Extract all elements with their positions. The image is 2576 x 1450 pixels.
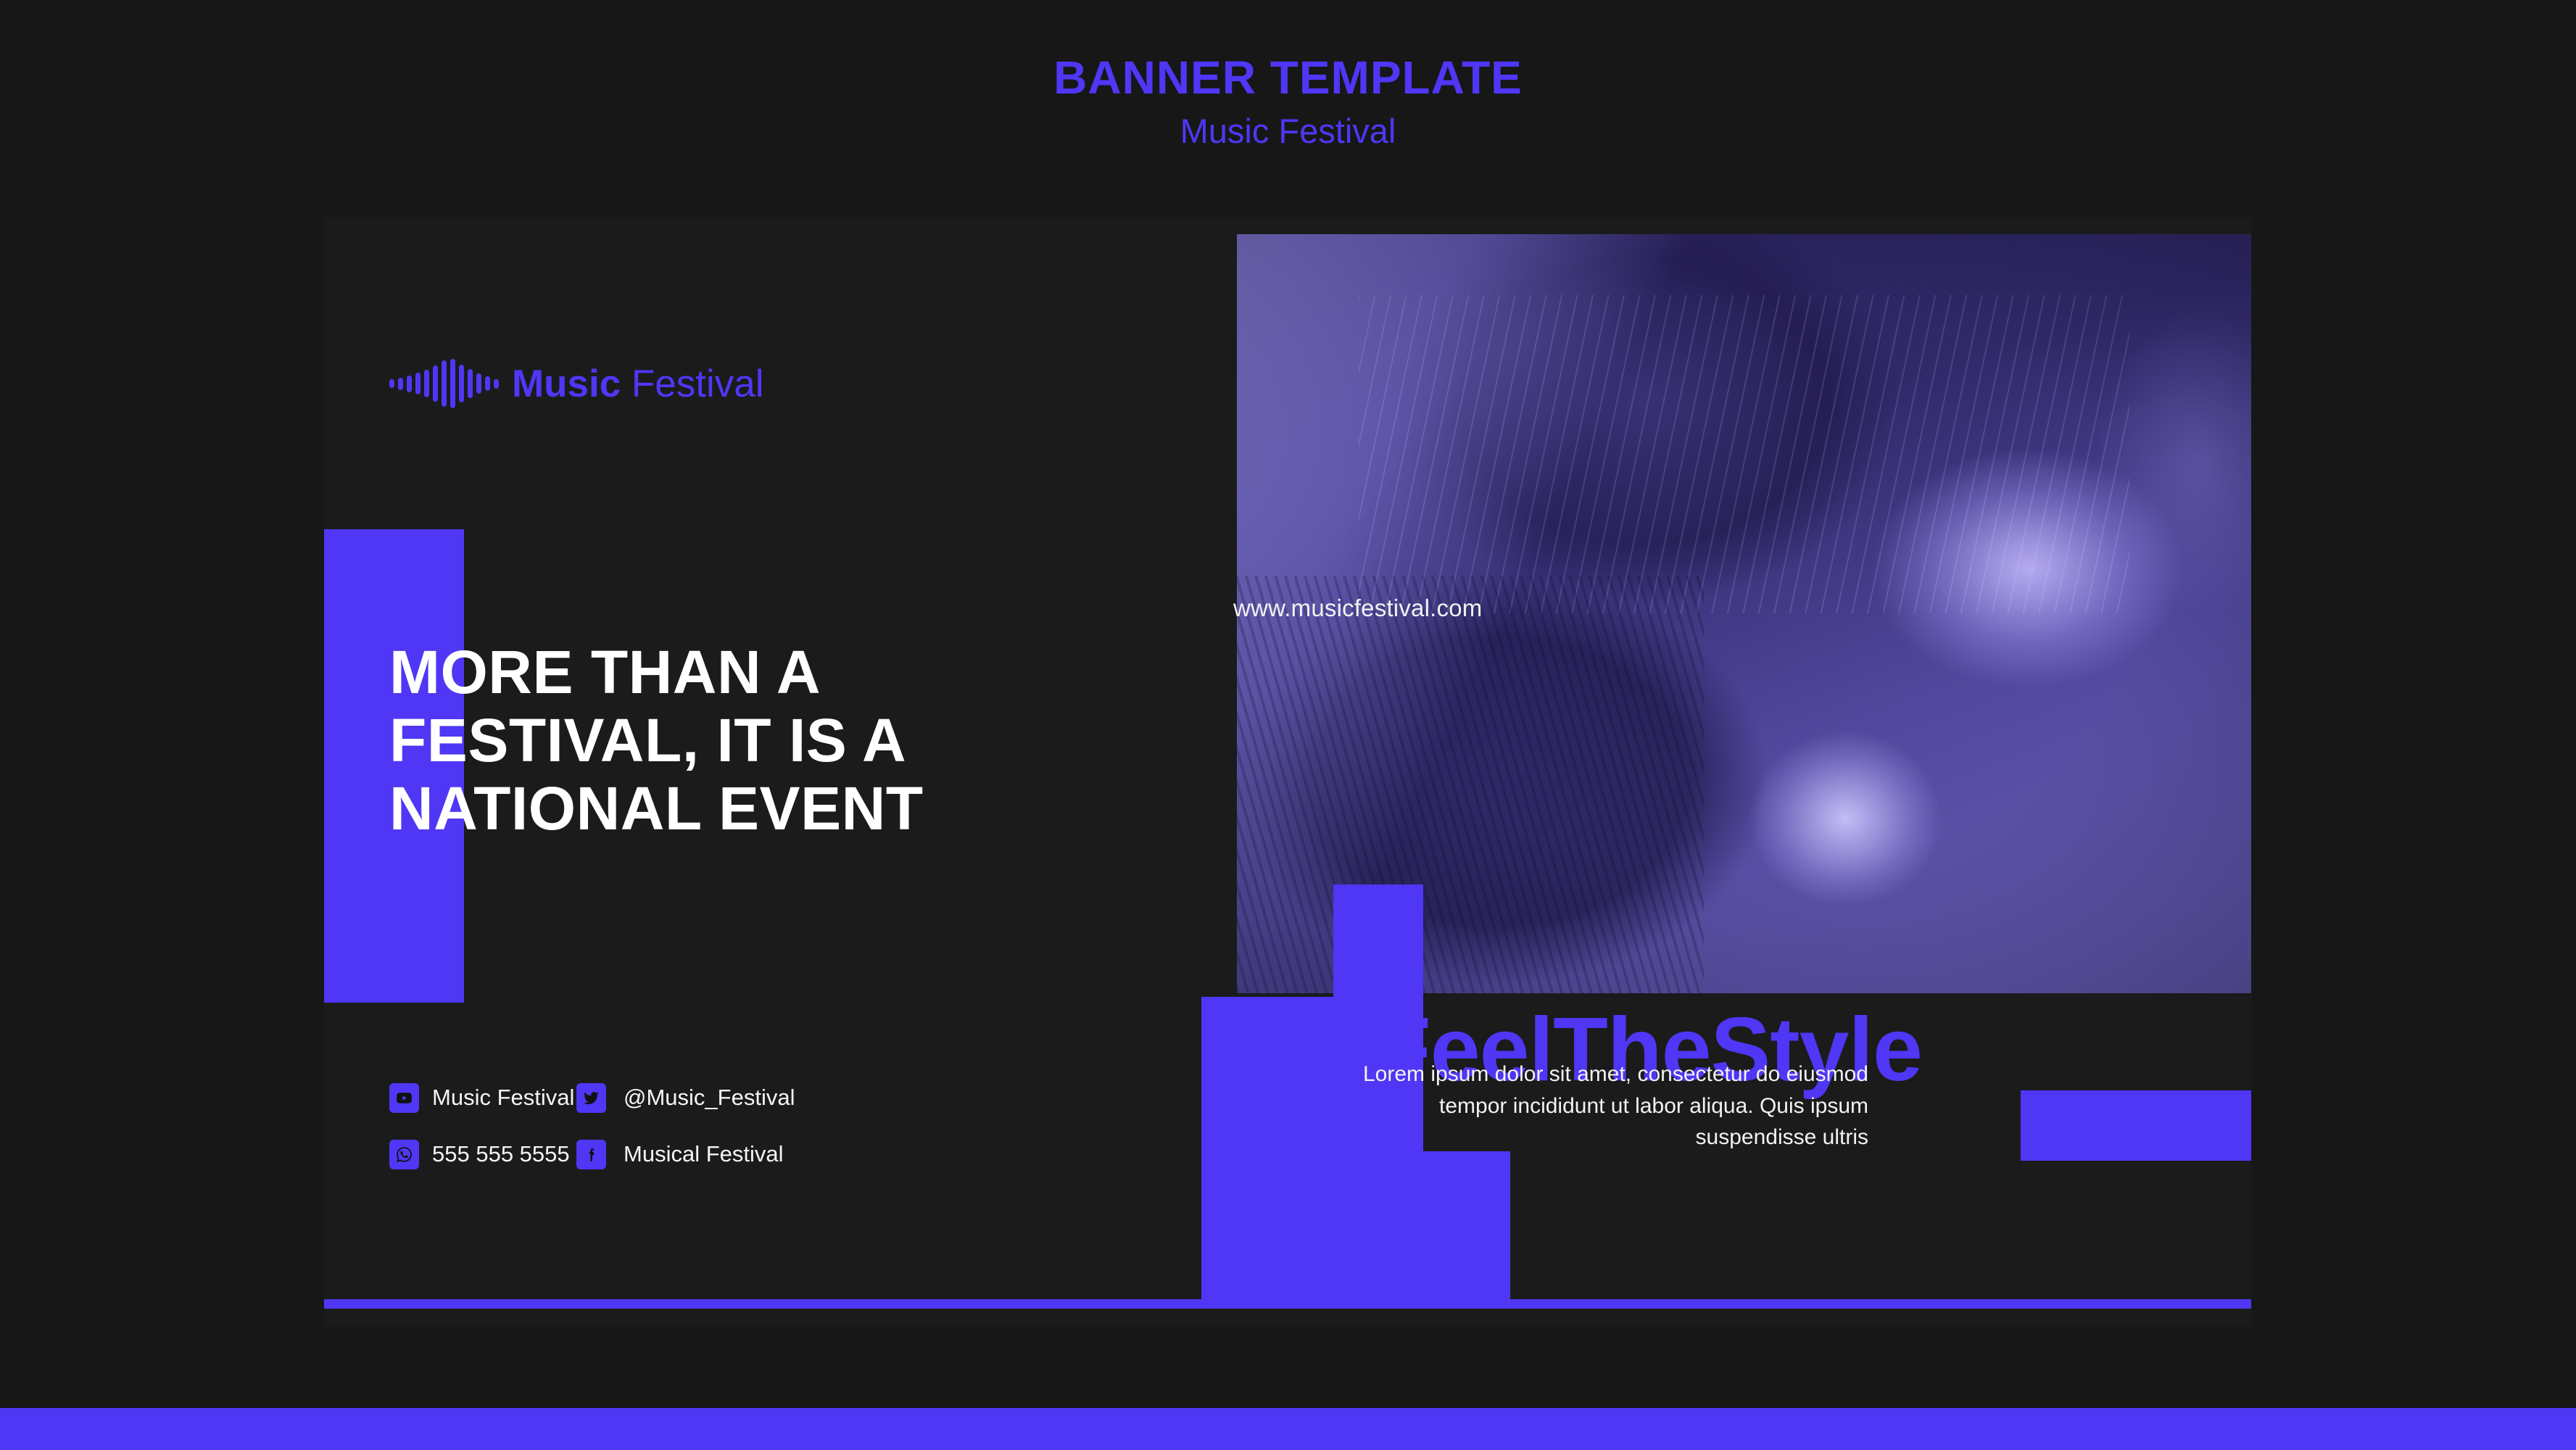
brand-logo[interactable]: Music Festival bbox=[389, 359, 764, 408]
page-heading: BANNER TEMPLATE Music Festival bbox=[0, 54, 2576, 150]
social-item-youtube[interactable]: Music Festival bbox=[389, 1077, 576, 1118]
social-item-twitter[interactable]: @Music_Festival bbox=[576, 1077, 795, 1118]
page-subtitle: Music Festival bbox=[0, 112, 2576, 150]
headline-line-2: FESTIVAL, IT IS A bbox=[389, 706, 1245, 774]
step-bar-3 bbox=[1403, 1151, 1510, 1305]
website-url[interactable]: www.musicfestival.com bbox=[1233, 594, 1482, 622]
brand-name-light: Festival bbox=[621, 362, 763, 405]
social-item-whatsapp[interactable]: 555 555 5555 bbox=[389, 1134, 576, 1174]
brand-name-bold: Music bbox=[512, 362, 621, 405]
banner-card: Music Festival www.musicfestival.com MOR… bbox=[324, 217, 2251, 1327]
banner-bottom-rule bbox=[324, 1299, 2251, 1309]
facebook-icon bbox=[576, 1140, 606, 1169]
social-label-whatsapp: 555 555 5555 bbox=[432, 1141, 570, 1167]
social-item-facebook[interactable]: Musical Festival bbox=[576, 1134, 795, 1174]
social-label-youtube: Music Festival bbox=[432, 1085, 574, 1111]
page-title: BANNER TEMPLATE bbox=[0, 54, 2576, 102]
body-text: Lorem ipsum dolor sit amet, consectetur … bbox=[1361, 1058, 1868, 1153]
headline: MORE THAN A FESTIVAL, IT IS A NATIONAL E… bbox=[389, 638, 1245, 842]
whatsapp-icon bbox=[389, 1140, 419, 1169]
social-label-facebook: Musical Festival bbox=[619, 1141, 784, 1167]
social-links: Music Festival @Music_Festival 555 555 5… bbox=[389, 1077, 795, 1174]
youtube-icon bbox=[389, 1083, 419, 1113]
step-bar-1 bbox=[1201, 997, 1355, 1305]
bottom-accent-strip bbox=[0, 1408, 2576, 1450]
social-label-twitter: @Music_Festival bbox=[619, 1085, 795, 1111]
brand-logo-text: Music Festival bbox=[512, 365, 764, 403]
twitter-icon bbox=[576, 1083, 606, 1113]
headline-line-1: MORE THAN A bbox=[389, 638, 1245, 706]
audio-waveform-icon bbox=[389, 359, 499, 408]
headline-line-3: NATIONAL EVENT bbox=[389, 774, 1245, 842]
right-accent-rectangle bbox=[2021, 1090, 2251, 1161]
